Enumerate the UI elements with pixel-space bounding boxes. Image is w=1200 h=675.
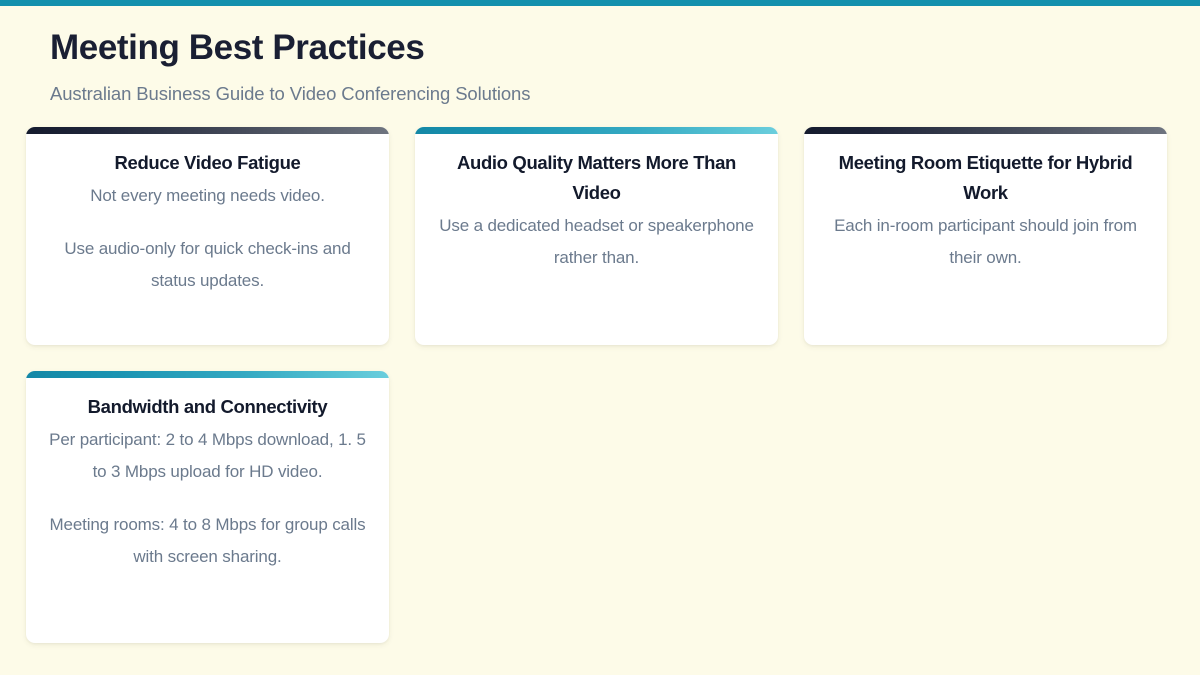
page-title: Meeting Best Practices (50, 30, 1174, 67)
card[interactable]: Reduce Video FatigueNot every meeting ne… (26, 127, 389, 345)
card-paragraph: Meeting rooms: 4 to 8 Mbps for group cal… (42, 509, 373, 573)
page-subtitle: Australian Business Guide to Video Confe… (50, 83, 1174, 105)
card-accent-bar (26, 371, 389, 378)
card-paragraph: Not every meeting needs video. (42, 180, 373, 212)
card-body: Reduce Video FatigueNot every meeting ne… (26, 134, 389, 345)
card-body: Audio Quality Matters More Than VideoUse… (415, 134, 778, 345)
card-title: Meeting Room Etiquette for Hybrid Work (820, 148, 1151, 208)
card-title: Bandwidth and Connectivity (42, 392, 373, 422)
page-container: Meeting Best Practices Australian Busine… (0, 6, 1200, 675)
card-grid: Reduce Video FatigueNot every meeting ne… (26, 127, 1174, 643)
card[interactable]: Bandwidth and ConnectivityPer participan… (26, 371, 389, 643)
card-title: Audio Quality Matters More Than Video (431, 148, 762, 208)
card-accent-bar (26, 127, 389, 134)
card-paragraph: Per participant: 2 to 4 Mbps download, 1… (42, 424, 373, 488)
card-body: Bandwidth and ConnectivityPer participan… (26, 378, 389, 643)
card-accent-bar (804, 127, 1167, 134)
card-paragraph: Use audio-only for quick check-ins and s… (42, 233, 373, 297)
card-paragraph: Use a dedicated headset or speakerphone … (431, 210, 762, 274)
card[interactable]: Meeting Room Etiquette for Hybrid WorkEa… (804, 127, 1167, 345)
card-paragraph: Each in-room participant should join fro… (820, 210, 1151, 274)
card-body: Meeting Room Etiquette for Hybrid WorkEa… (804, 134, 1167, 345)
card-title: Reduce Video Fatigue (42, 148, 373, 178)
card[interactable]: Audio Quality Matters More Than VideoUse… (415, 127, 778, 345)
card-accent-bar (415, 127, 778, 134)
